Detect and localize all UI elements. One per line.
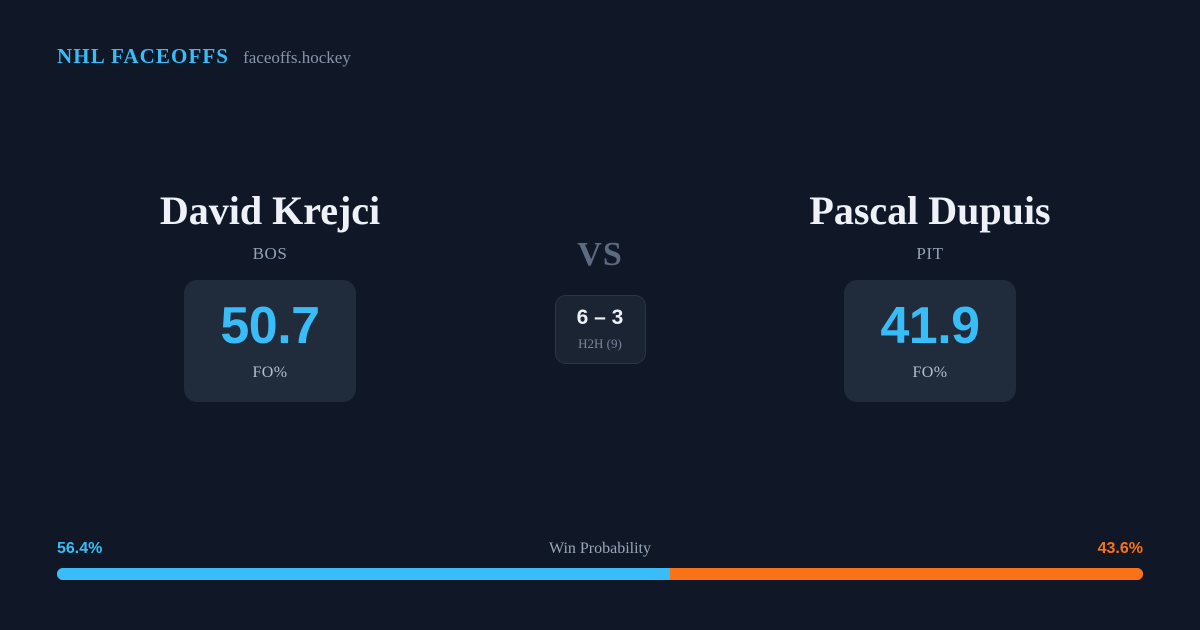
player-team-right: PIT	[916, 244, 943, 264]
player-team-left: BOS	[253, 244, 288, 264]
win-probability-bar-left-fill	[57, 568, 670, 580]
vs-label: VS	[577, 238, 622, 272]
win-probability-right-value: 43.6%	[1098, 540, 1143, 558]
brand-title: NHL FACEOFFS	[57, 46, 229, 67]
stat-card-left: 50.7 FO%	[184, 280, 356, 402]
player-name-right: Pascal Dupuis	[809, 190, 1050, 232]
player-card-right: Pascal Dupuis PIT 41.9 FO%	[690, 190, 1170, 402]
stat-card-right: 41.9 FO%	[844, 280, 1016, 402]
brand-header: NHL FACEOFFS faceoffs.hockey	[57, 46, 351, 67]
player-card-left: David Krejci BOS 50.7 FO%	[30, 190, 510, 402]
head-to-head-label: H2H (9)	[578, 336, 622, 352]
head-to-head-score: 6 – 3	[577, 307, 624, 328]
stat-value-left: 50.7	[220, 300, 319, 352]
win-probability-labels: 56.4% Win Probability 43.6%	[57, 540, 1143, 558]
matchup-section: David Krejci BOS 50.7 FO% VS 6 – 3 H2H (…	[0, 190, 1200, 402]
stat-label-right: FO%	[913, 364, 948, 382]
win-probability-bar	[57, 568, 1143, 580]
win-probability-left-value: 56.4%	[57, 540, 102, 558]
win-probability-section: 56.4% Win Probability 43.6%	[57, 540, 1143, 580]
win-probability-caption: Win Probability	[549, 540, 651, 558]
versus-block: VS 6 – 3 H2H (9)	[510, 190, 690, 364]
stat-label-left: FO%	[253, 364, 288, 382]
win-probability-bar-right-fill	[670, 568, 1144, 580]
brand-site-url: faceoffs.hockey	[243, 49, 351, 66]
stat-value-right: 41.9	[880, 300, 979, 352]
head-to-head-card: 6 – 3 H2H (9)	[555, 295, 646, 364]
player-name-left: David Krejci	[160, 190, 380, 232]
